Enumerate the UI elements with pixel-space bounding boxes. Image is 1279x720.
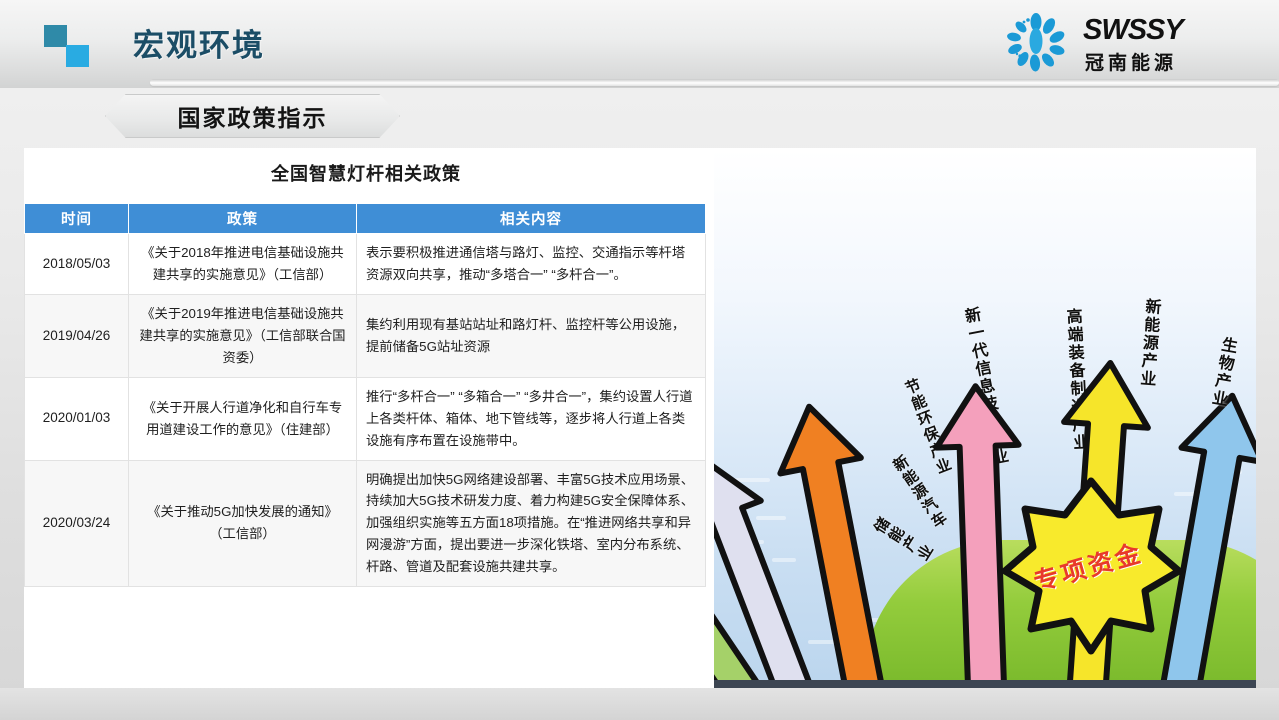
- page-title: 宏观环境: [133, 20, 265, 65]
- header-divider: [150, 79, 1279, 86]
- cell-time: 2020/01/03: [25, 377, 129, 460]
- footer-strip: [0, 688, 1279, 720]
- slide-header: 宏观环境: [0, 0, 1279, 88]
- cell-time: 2019/04/26: [25, 294, 129, 377]
- cell-detail: 表示要积极推进通信塔与路灯、监控、交通指示等杆塔资源双向共享，推动“多塔合一” …: [357, 234, 706, 295]
- table-row: 2019/04/26 《关于2019年推进电信基础设施共建共享的实施意见》（工信…: [25, 294, 706, 377]
- brand-name-en: SWSSY: [1083, 14, 1183, 47]
- industry-arrows-illustration: 储能产业 新能源汽车 节能环保产业 新一代信息技术产业 高端装备制造产业 新能源…: [714, 150, 1256, 688]
- table-row: 2020/03/24 《关于推动5G加快发展的通知》（工信部） 明确提出加快5G…: [25, 460, 706, 587]
- square-light-icon: [66, 45, 89, 67]
- table-title: 全国智慧灯杆相关政策: [24, 160, 708, 186]
- section-title: 国家政策指示: [178, 99, 328, 133]
- cell-policy: 《关于2019年推进电信基础设施共建共享的实施意见》（工信部联合国资委）: [129, 294, 357, 377]
- cell-policy: 《关于开展人行道净化和自行车专用道建设工作的意见》（住建部）: [129, 377, 357, 460]
- cell-detail: 明确提出加快5G网络建设部署、丰富5G技术应用场景、持续加大5G技术研发力度、着…: [357, 460, 706, 587]
- table-header-row: 时间 政策 相关内容: [25, 204, 706, 234]
- cell-time: 2018/05/03: [25, 234, 129, 295]
- table-row: 2018/05/03 《关于2018年推进电信基础设施共建共享的实施意见》（工信…: [25, 234, 706, 295]
- section-banner: 国家政策指示: [0, 90, 1279, 145]
- brand-logo: SWSSY 冠南能源: [1001, 8, 1261, 78]
- cell-detail: 集约利用现有基站站址和路灯杆、监控杆等公用设施，提前储备5G站址资源: [357, 294, 706, 377]
- table-row: 2020/01/03 《关于开展人行道净化和自行车专用道建设工作的意见》（住建部…: [25, 377, 706, 460]
- brand-name-cn: 冠南能源: [1085, 48, 1177, 75]
- two-squares-icon: [44, 25, 90, 67]
- cell-time: 2020/03/24: [25, 460, 129, 587]
- column-header-detail: 相关内容: [357, 204, 706, 234]
- policy-table: 时间 政策 相关内容 2018/05/03 《关于2018年推进电信基础设施共建…: [24, 203, 706, 587]
- column-header-policy: 政策: [129, 204, 357, 234]
- column-header-time: 时间: [25, 204, 129, 234]
- section-banner-inner: 国家政策指示: [105, 94, 400, 138]
- cell-detail: 推行“多杆合一” “多箱合一” “多井合一”，集约设置人行道上各类杆体、箱体、地…: [357, 377, 706, 460]
- cell-policy: 《关于2018年推进电信基础设施共建共享的实施意见》（工信部）: [129, 234, 357, 295]
- water-droplet-ring-icon: [1001, 10, 1071, 74]
- cell-policy: 《关于推动5G加快发展的通知》（工信部）: [129, 460, 357, 587]
- square-dark-icon: [44, 25, 67, 47]
